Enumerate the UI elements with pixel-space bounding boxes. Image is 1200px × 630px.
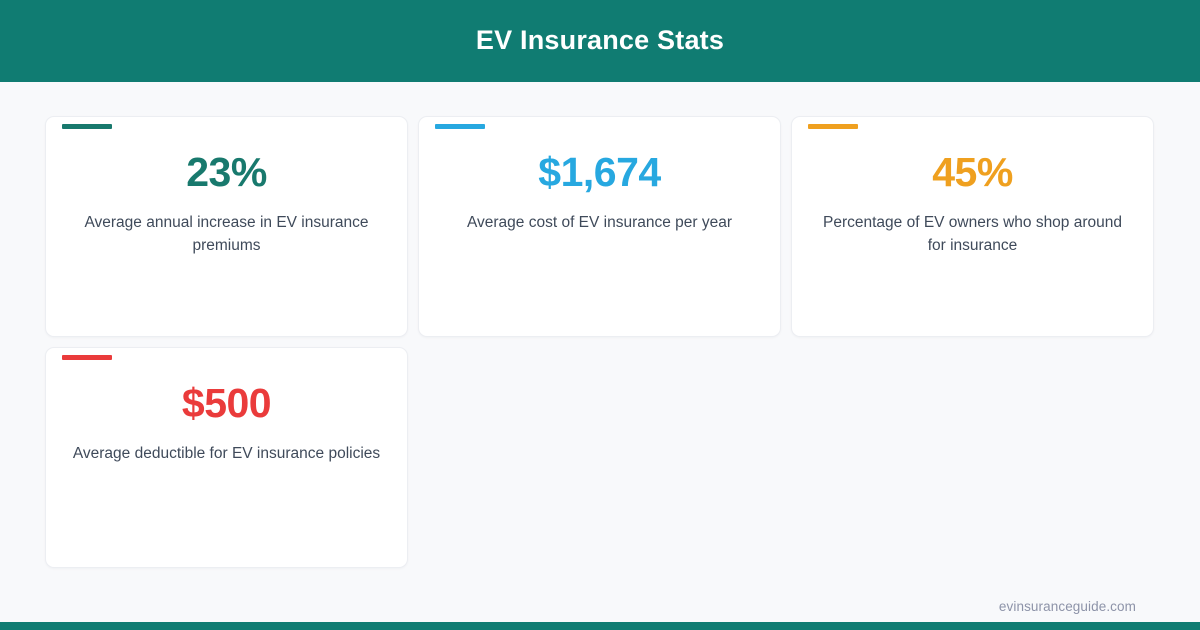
stat-value: $500: [182, 383, 271, 424]
footer-bar: [0, 622, 1200, 630]
stat-value: 45%: [932, 152, 1013, 193]
accent-bar-icon: [62, 355, 112, 360]
stat-value: $1,674: [538, 152, 660, 193]
stat-label: Average annual increase in EV insurance …: [68, 212, 385, 258]
stat-card: 45% Percentage of EV owners who shop aro…: [791, 116, 1154, 337]
stat-value: 23%: [186, 152, 267, 193]
stats-board: 23% Average annual increase in EV insura…: [0, 82, 1200, 568]
stat-label: Percentage of EV owners who shop around …: [814, 212, 1131, 258]
stat-card: $500 Average deductible for EV insurance…: [45, 347, 408, 568]
stat-label: Average deductible for EV insurance poli…: [73, 443, 380, 466]
page-header: EV Insurance Stats: [0, 0, 1200, 82]
site-watermark: evinsuranceguide.com: [999, 599, 1136, 614]
page-title: EV Insurance Stats: [476, 26, 724, 56]
stat-card: 23% Average annual increase in EV insura…: [45, 116, 408, 337]
stat-card-grid: 23% Average annual increase in EV insura…: [45, 116, 1155, 568]
stat-card: $1,674 Average cost of EV insurance per …: [418, 116, 781, 337]
stat-label: Average cost of EV insurance per year: [467, 212, 732, 235]
accent-bar-icon: [62, 124, 112, 129]
accent-bar-icon: [808, 124, 858, 129]
accent-bar-icon: [435, 124, 485, 129]
